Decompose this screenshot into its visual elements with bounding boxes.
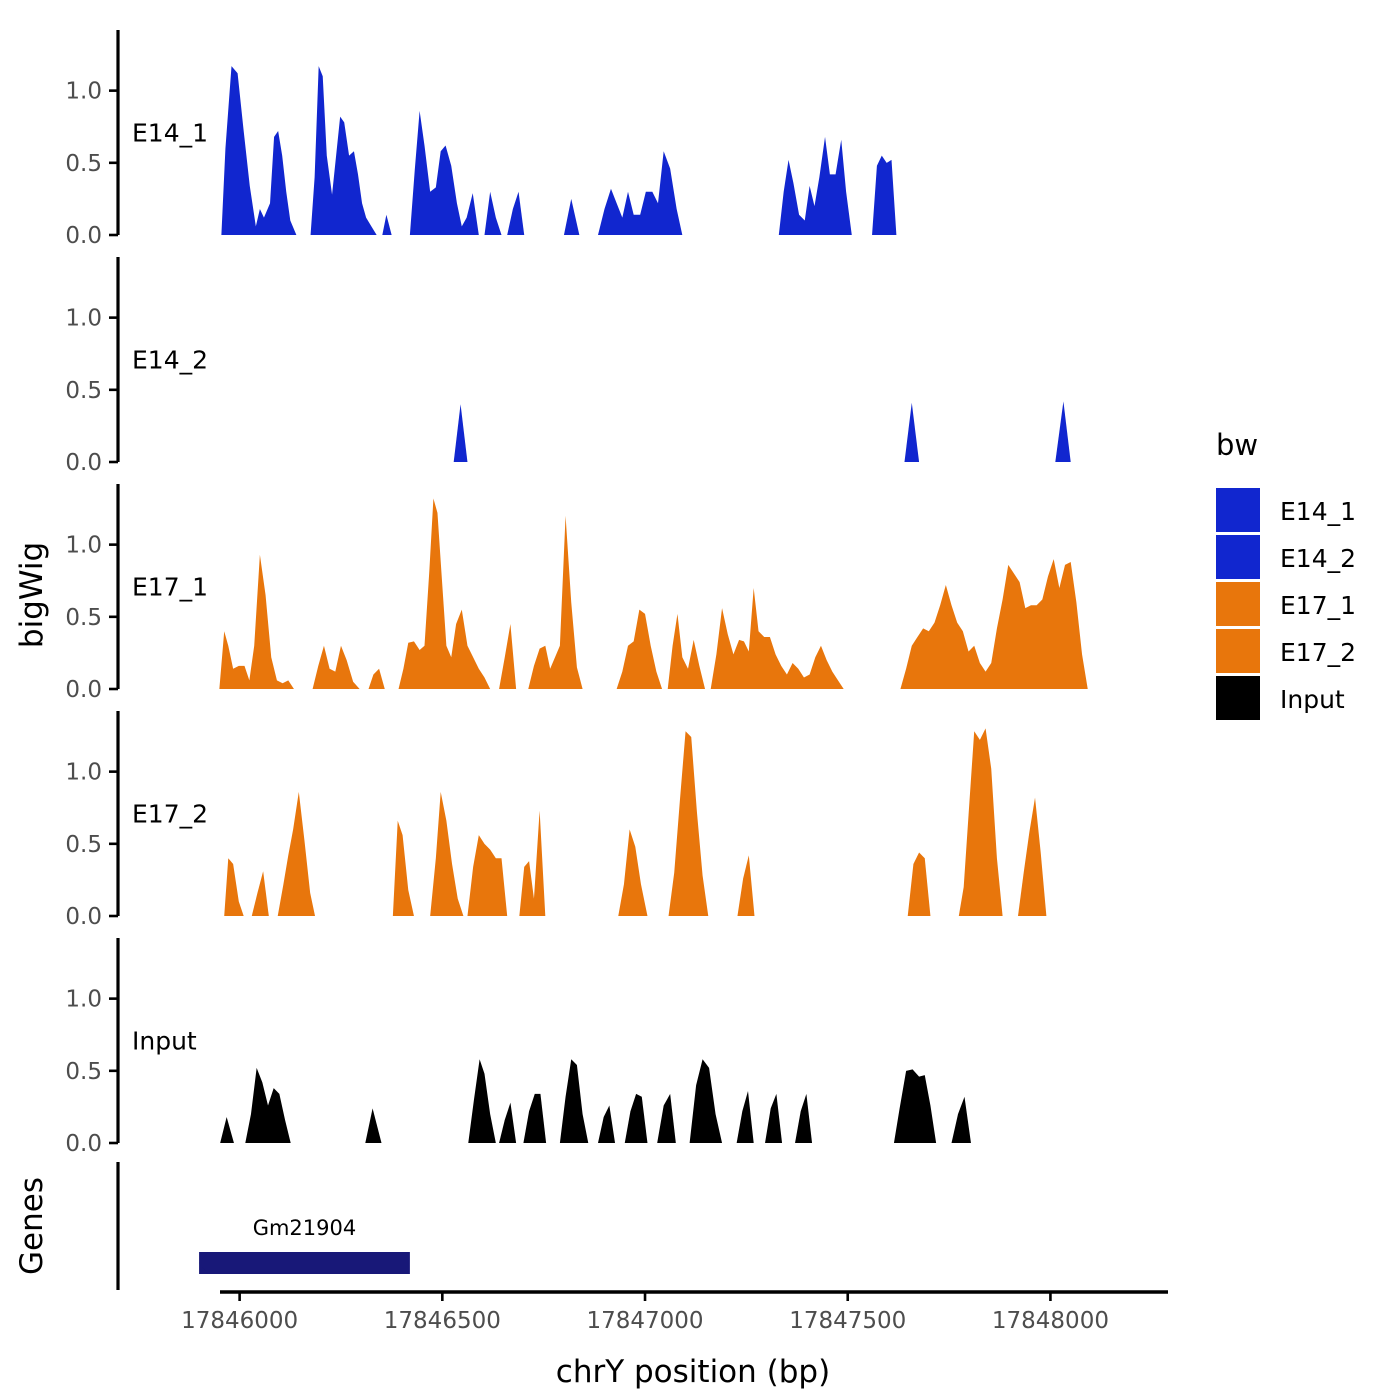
legend-label: E17_1 [1280, 591, 1356, 620]
y-tick-label: 0.5 [65, 378, 102, 404]
y-tick-label: 0.5 [65, 151, 102, 177]
y-tick-label: 0.0 [65, 450, 102, 476]
coverage-area [519, 811, 545, 916]
coverage-area [668, 614, 705, 689]
coverage-area [468, 1059, 496, 1143]
legend-item-e17_2[interactable]: E17_2 [1216, 629, 1356, 673]
coverage-area [904, 403, 919, 462]
y-tick-label: 0.5 [65, 832, 102, 858]
y-tick-label: 1.0 [65, 306, 102, 332]
y-tick-label: 1.0 [65, 760, 102, 786]
legend-swatch [1216, 676, 1260, 720]
coverage-area [598, 151, 682, 235]
x-tick-label: 17847500 [789, 1308, 906, 1334]
coverage-area [224, 858, 243, 916]
coverage-area [523, 1094, 546, 1143]
coverage-area [560, 1059, 588, 1143]
y-axis-title: bigWig [14, 542, 50, 648]
y-tick-label: 1.0 [65, 533, 102, 559]
coverage-area [737, 1091, 754, 1143]
x-axis: 1784600017846500178470001784750017848000 [181, 1292, 1168, 1334]
coverage-area [669, 731, 709, 916]
coverage-area [617, 610, 662, 689]
y-tick-label: 1.0 [65, 987, 102, 1013]
legend-label: E17_2 [1280, 638, 1356, 667]
x-tick-label: 17846000 [181, 1308, 298, 1334]
x-tick-label: 17846500 [384, 1308, 501, 1334]
track-label-input: Input [132, 1027, 197, 1056]
coverage-area [278, 792, 315, 916]
coverage-area [618, 829, 647, 916]
legend-title: bw [1216, 428, 1258, 462]
track-panels: 0.00.51.0E14_10.00.51.0E14_20.00.51.0E17… [65, 30, 1087, 1157]
track-panel-e17_1: 0.00.51.0E17_1 [65, 484, 1087, 703]
track-panel-input: 0.00.51.0Input [65, 938, 971, 1157]
coverage-area [507, 192, 524, 235]
y-tick-label: 0.0 [65, 1131, 102, 1157]
legend-label: E14_2 [1280, 544, 1356, 573]
legend-swatch [1216, 488, 1260, 532]
y-tick-label: 0.0 [65, 904, 102, 930]
legend-swatch [1216, 629, 1260, 673]
y-tick-label: 0.0 [65, 223, 102, 249]
coverage-area [467, 835, 507, 916]
genes-panel: Gm21904 [118, 1162, 410, 1290]
x-tick-label: 17848000 [992, 1308, 1109, 1334]
coverage-area [795, 1094, 812, 1143]
coverage-area [499, 1103, 516, 1143]
coverage-area [393, 821, 414, 916]
gene-label: Gm21904 [253, 1216, 357, 1240]
coverage-area [952, 1097, 971, 1143]
y-tick-label: 0.5 [65, 605, 102, 631]
coverage-area [765, 1094, 782, 1143]
legend-item-e14_1[interactable]: E14_1 [1216, 488, 1356, 532]
coverage-area [220, 1117, 234, 1143]
coverage-area [245, 1068, 290, 1143]
coverage-area [252, 871, 269, 916]
legend: bwE14_1E14_2E17_1E17_2Input [1216, 428, 1356, 720]
legend-item-e17_1[interactable]: E17_1 [1216, 582, 1356, 626]
coverage-area [657, 1094, 676, 1143]
track-label-e17_1: E17_1 [132, 573, 208, 602]
x-tick-label: 17847000 [586, 1308, 703, 1334]
coverage-area [410, 111, 479, 235]
legend-item-input[interactable]: Input [1216, 676, 1345, 720]
gene-body[interactable] [199, 1252, 410, 1274]
coverage-area [399, 498, 491, 689]
coverage-area [737, 855, 754, 916]
track-panel-e14_1: 0.00.51.0E14_1 [65, 30, 896, 249]
coverage-area [528, 516, 582, 689]
track-label-e17_2: E17_2 [132, 800, 208, 829]
coverage-area [369, 669, 385, 689]
coverage-area [365, 1108, 381, 1143]
coverage-area [1018, 798, 1046, 916]
track-panel-e17_2: 0.00.51.0E17_2 [65, 711, 1046, 930]
y-tick-label: 0.0 [65, 677, 102, 703]
coverage-area [959, 728, 1003, 916]
coverage-area [900, 559, 1087, 689]
coverage-area [598, 1105, 615, 1143]
track-label-e14_2: E14_2 [132, 346, 208, 375]
coverage-area [221, 66, 296, 235]
legend-item-e14_2[interactable]: E14_2 [1216, 535, 1356, 579]
coverage-area [219, 555, 294, 689]
legend-swatch [1216, 582, 1260, 626]
coverage-area [484, 192, 501, 235]
coverage-area [908, 852, 931, 916]
y-tick-label: 1.0 [65, 79, 102, 105]
genes-axis-title: Genes [14, 1177, 50, 1275]
track-label-e14_1: E14_1 [132, 119, 208, 148]
legend-swatch [1216, 535, 1260, 579]
coverage-area [311, 66, 377, 235]
coverage-area [711, 588, 844, 689]
coverage-area [779, 137, 852, 235]
coverage-area [894, 1069, 936, 1143]
coverage-area [564, 199, 579, 235]
coverage-area [625, 1094, 648, 1143]
legend-label: E14_1 [1280, 497, 1356, 526]
y-tick-label: 0.5 [65, 1059, 102, 1085]
coverage-area [872, 156, 896, 235]
figure-root: 0.00.51.0E14_10.00.51.0E14_20.00.51.0E17… [0, 0, 1400, 1400]
coverage-area [499, 624, 516, 689]
legend-label: Input [1280, 685, 1345, 714]
genome-browser-figure: 0.00.51.0E14_10.00.51.0E14_20.00.51.0E17… [0, 0, 1400, 1400]
coverage-area [430, 792, 463, 916]
coverage-area [1055, 401, 1070, 462]
x-axis-title: chrY position (bp) [556, 1354, 830, 1390]
coverage-area [454, 404, 468, 462]
coverage-area [382, 215, 391, 235]
coverage-area [690, 1059, 722, 1143]
track-panel-e14_2: 0.00.51.0E14_2 [65, 257, 1070, 476]
coverage-area [313, 646, 360, 689]
